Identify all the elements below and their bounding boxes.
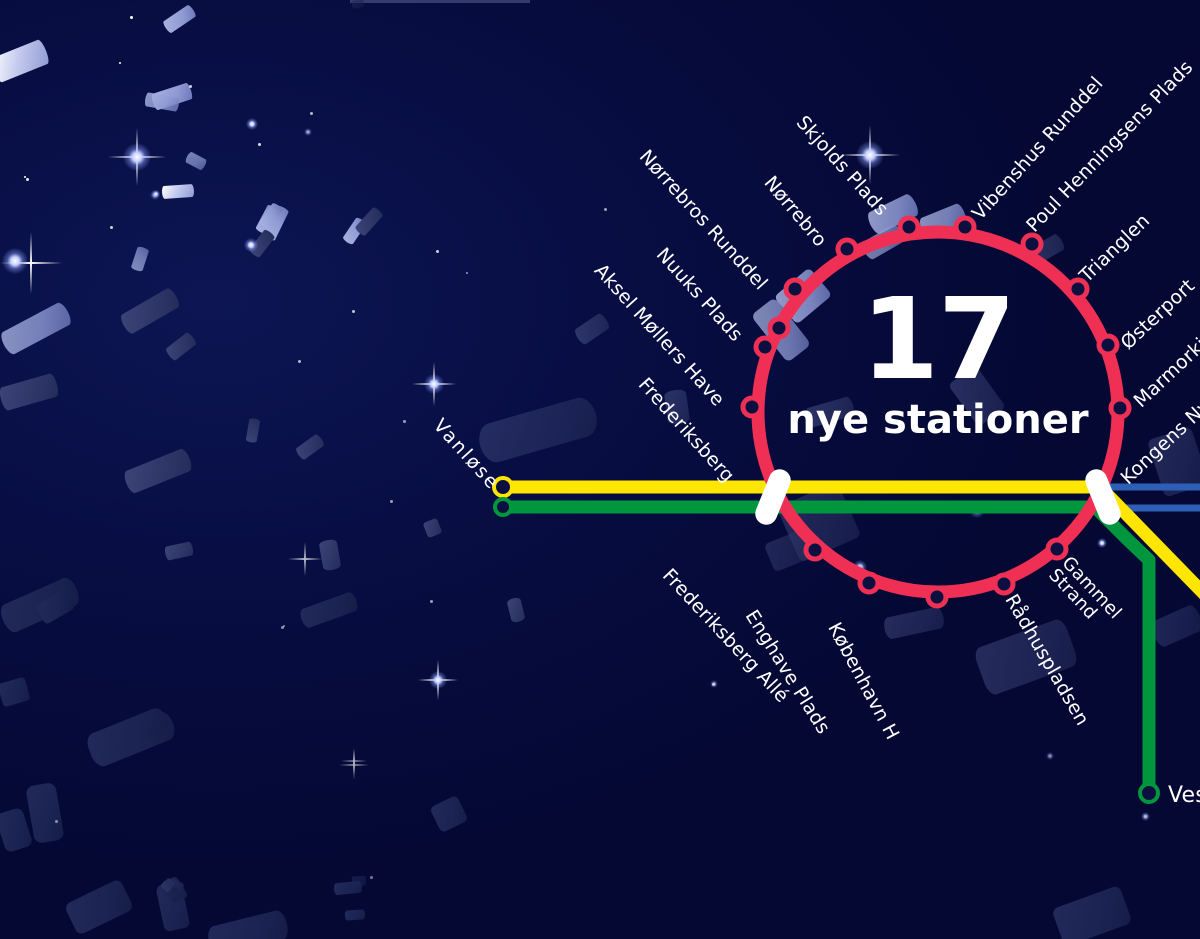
- station-dot[interactable]: [743, 398, 761, 416]
- station-dot[interactable]: [1048, 540, 1066, 558]
- city-ring-circle: [758, 232, 1118, 592]
- terminal-dot-vanlose-green[interactable]: [495, 499, 511, 515]
- station-dot[interactable]: [995, 575, 1013, 593]
- terminal-dot-vest-green[interactable]: [1140, 784, 1158, 802]
- station-dot[interactable]: [838, 240, 856, 258]
- station-dot[interactable]: [860, 574, 878, 592]
- station-dot[interactable]: [786, 280, 804, 298]
- station-dot[interactable]: [900, 218, 918, 236]
- station-label-vest-truncated: Ves: [1168, 783, 1200, 808]
- station-dot[interactable]: [956, 218, 974, 236]
- station-dot[interactable]: [1099, 336, 1117, 354]
- station-dot[interactable]: [1111, 399, 1129, 417]
- metro-map-svg: [0, 0, 1200, 939]
- station-dot[interactable]: [1069, 280, 1087, 298]
- station-dot[interactable]: [806, 541, 824, 559]
- metro-map-graphic: 17 nye stationer Vanløse Frederiksberg A…: [0, 0, 1200, 939]
- ring-station-dots: [743, 218, 1129, 606]
- station-dot[interactable]: [1023, 235, 1041, 253]
- station-dot[interactable]: [928, 588, 946, 606]
- station-dot[interactable]: [770, 319, 788, 337]
- station-dot[interactable]: [756, 338, 774, 356]
